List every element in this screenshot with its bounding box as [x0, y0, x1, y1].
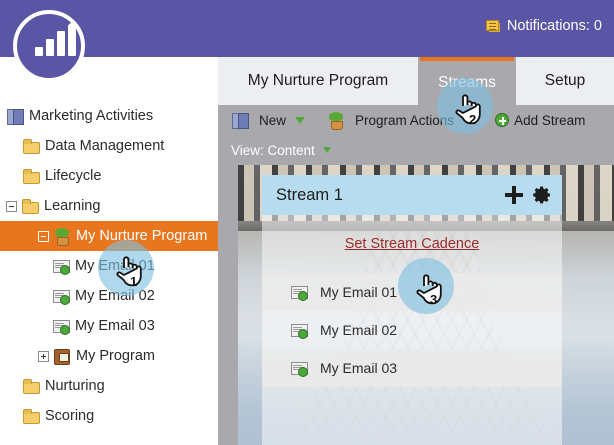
- plus-icon[interactable]: [505, 186, 523, 204]
- folder-icon: [22, 138, 40, 154]
- stream-panel-header: Stream 1: [262, 175, 562, 215]
- sidebar-item-lifecycle[interactable]: Lifecycle: [0, 161, 218, 191]
- main-content: My Nurture Program Streams Setup New Pro…: [218, 57, 614, 445]
- sidebar-item-label: My Email 02: [75, 288, 155, 304]
- set-stream-cadence-link[interactable]: Set Stream Cadence: [345, 236, 480, 252]
- toolbar: New Program Actions Add Stream: [218, 105, 614, 135]
- collapse-toggle-icon[interactable]: [38, 231, 49, 242]
- plus-circle-icon: [495, 113, 509, 127]
- notifications-label: Notifications: 0: [507, 18, 602, 34]
- tab-label: My Nurture Program: [248, 72, 388, 90]
- program-actions-button[interactable]: Program Actions: [327, 112, 473, 128]
- sidebar-item-my-email-01[interactable]: My Email 01: [0, 251, 218, 281]
- view-label: View: Content: [231, 143, 315, 158]
- app-window: Notifications: 0 Marketing Activities Da…: [0, 0, 614, 445]
- sidebar-item-label: Scoring: [45, 408, 94, 424]
- email-icon: [52, 258, 70, 274]
- plant-icon: [327, 112, 345, 128]
- stream-canvas: Stream 1 Set Stream Cadence: [238, 165, 614, 445]
- tab-label: Setup: [545, 72, 586, 90]
- stream-row-my-email-02[interactable]: My Email 02: [262, 311, 562, 349]
- email-icon: [290, 322, 308, 338]
- sidebar-item-scoring[interactable]: Scoring: [0, 401, 218, 431]
- stream-title: Stream 1: [276, 186, 505, 205]
- sidebar-item-my-email-02[interactable]: My Email 02: [0, 281, 218, 311]
- sidebar-item-my-email-03[interactable]: My Email 03: [0, 311, 218, 341]
- stream-row-label: My Email 03: [320, 360, 397, 376]
- sidebar-item-label: My Email 03: [75, 318, 155, 334]
- folder-icon: [22, 168, 40, 184]
- sidebar-item-my-program[interactable]: My Program: [0, 341, 218, 371]
- tab-streams[interactable]: Streams: [420, 57, 514, 105]
- folder-icon: [21, 198, 39, 214]
- tab-label: Streams: [438, 74, 496, 92]
- sidebar-item-data-management[interactable]: Data Management: [0, 131, 218, 161]
- caret-down-icon[interactable]: [463, 117, 473, 124]
- notifications-area[interactable]: Notifications: 0: [486, 18, 602, 34]
- program-icon: [53, 348, 71, 364]
- sidebar-item-learning[interactable]: Learning: [0, 191, 218, 221]
- collapse-toggle-icon[interactable]: [6, 201, 17, 212]
- sidebar-item-nurturing[interactable]: Nurturing: [0, 371, 218, 401]
- add-stream-label: Add Stream: [514, 113, 585, 128]
- sidebar-item-label: My Program: [76, 348, 155, 364]
- tab-bar: My Nurture Program Streams Setup: [218, 57, 614, 105]
- email-icon: [52, 288, 70, 304]
- tree-root-label: Marketing Activities: [29, 108, 153, 124]
- caret-down-icon[interactable]: [295, 117, 305, 124]
- cadence-row: Set Stream Cadence: [262, 215, 562, 273]
- stream-row-label: My Email 01: [320, 284, 397, 300]
- stack-icon: [6, 108, 24, 124]
- view-selector[interactable]: View: Content: [218, 135, 614, 165]
- stack-icon: [231, 112, 249, 128]
- new-label: New: [259, 113, 286, 128]
- expand-toggle-icon[interactable]: [38, 351, 49, 362]
- plant-icon: [53, 228, 71, 244]
- add-stream-button[interactable]: Add Stream: [495, 113, 585, 128]
- sidebar: Marketing Activities Data Management Lif…: [0, 57, 218, 445]
- bar-chart-logo[interactable]: [13, 10, 85, 82]
- stream-header-actions: [505, 185, 552, 205]
- folder-icon: [22, 408, 40, 424]
- new-button[interactable]: New: [231, 112, 305, 128]
- tab-setup[interactable]: Setup: [516, 57, 614, 105]
- program-actions-label: Program Actions: [355, 113, 454, 128]
- stream-row-my-email-03[interactable]: My Email 03: [262, 349, 562, 387]
- stream-panel-body: Set Stream Cadence My Email 01 My Email …: [262, 215, 562, 445]
- folder-icon: [22, 378, 40, 394]
- sidebar-item-label: My Email 01: [75, 258, 155, 274]
- tree-root-marketing-activities[interactable]: Marketing Activities: [0, 101, 218, 131]
- sidebar-item-label: My Nurture Program: [76, 228, 207, 244]
- sidebar-item-label: Lifecycle: [45, 168, 101, 184]
- stream-row-label: My Email 02: [320, 322, 397, 338]
- email-icon: [52, 318, 70, 334]
- stream-row-my-email-01[interactable]: My Email 01: [262, 273, 562, 311]
- gear-icon[interactable]: [532, 185, 552, 205]
- email-icon: [290, 284, 308, 300]
- sidebar-item-my-nurture-program[interactable]: My Nurture Program: [0, 221, 218, 251]
- sidebar-item-label: Nurturing: [45, 378, 105, 394]
- notes-icon: [486, 19, 501, 33]
- logo-bars-icon: [33, 22, 77, 56]
- email-icon: [290, 360, 308, 376]
- tab-my-nurture-program[interactable]: My Nurture Program: [218, 57, 418, 105]
- caret-down-icon[interactable]: [323, 147, 331, 153]
- stream-panel: Stream 1 Set Stream Cadence: [262, 175, 562, 445]
- sidebar-item-label: Data Management: [45, 138, 164, 154]
- sidebar-item-label: Learning: [44, 198, 100, 214]
- activity-tree: Marketing Activities Data Management Lif…: [0, 101, 218, 431]
- top-header-bar: Notifications: 0: [0, 0, 614, 57]
